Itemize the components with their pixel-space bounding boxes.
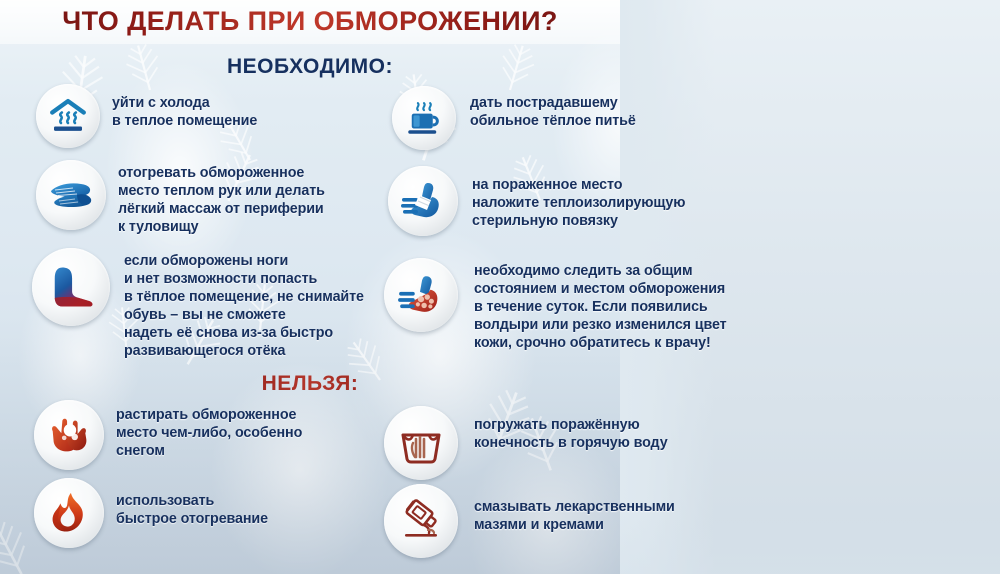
text-line: снегом [116,442,302,460]
list-item-required-6-text: необходимо следить за общим состоянием и… [474,258,727,352]
flame-icon [34,478,104,548]
list-item-forbidden-3-text: погружать поражённую конечность в горячу… [474,406,668,452]
text-line: уйти с холода [112,94,257,112]
list-item-required-1-text: уйти с холода в теплое помещение [112,84,257,130]
list-item-required-2: отогревать обмороженное место теплом рук… [36,160,325,236]
list-item-required-4: дать пострадавшему обильное тёплое питьё [392,86,636,150]
text-line: место чем-либо, особенно [116,424,302,442]
list-item-forbidden-1-text: растирать обмороженное место чем-либо, о… [116,400,302,460]
list-item-forbidden-2: использовать быстрое отогревание [34,478,268,548]
list-item-required-5: на пораженное место наложите теплоизолир… [388,166,685,236]
text-line: использовать [116,492,268,510]
list-item-forbidden-2-text: использовать быстрое отогревание [116,478,268,528]
text-line: развивающегося отёка [124,342,364,360]
list-item-required-4-text: дать пострадавшему обильное тёплое питьё [470,86,636,130]
frostbitten-foot-icon [32,248,110,326]
list-item-required-3: если обморожены ноги и нет возможности п… [32,248,364,360]
list-item-forbidden-1: растирать обмороженное место чем-либо, о… [34,400,302,470]
text-line: необходимо следить за общим [474,262,727,280]
infographic-poster: ЧТО ДЕЛАТЬ ПРИ ОБМОРОЖЕНИИ? НЕОБХОДИМО: … [0,0,1000,574]
text-line: дать пострадавшему [470,94,636,112]
page-title: ЧТО ДЕЛАТЬ ПРИ ОБМОРОЖЕНИИ? [0,6,620,37]
text-line: волдыри или резко изменился цвет [474,316,727,334]
text-line: к туловищу [118,218,325,236]
list-item-forbidden-3: погружать поражённую конечность в горячу… [384,406,668,480]
list-item-required-2-text: отогревать обмороженное место теплом рук… [118,160,325,236]
text-line: обувь – вы не сможете [124,306,364,324]
text-line: кожи, срочно обратитесь к врачу! [474,334,727,352]
list-item-forbidden-4: смазывать лекарственными мазями и кремам… [384,484,675,558]
text-line: погружать поражённую [474,416,668,434]
text-line: наложите теплоизолирующую [472,194,685,212]
text-line: растирать обмороженное [116,406,302,424]
text-line: лёгкий массаж от периферии [118,200,325,218]
list-item-forbidden-4-text: смазывать лекарственными мазями и кремам… [474,484,675,534]
text-line: и нет возможности попасть [124,270,364,288]
section-heading-required: НЕОБХОДИМО: [160,55,460,79]
text-line: если обморожены ноги [124,252,364,270]
text-line: конечность в горячую воду [474,434,668,452]
list-item-required-5-text: на пораженное место наложите теплоизолир… [472,166,685,230]
text-line: стерильную повязку [472,212,685,230]
text-line: в течение суток. Если появились [474,298,727,316]
list-item-required-6: необходимо следить за общим состоянием и… [384,258,727,352]
list-item-required-3-text: если обморожены ноги и нет возможности п… [124,248,364,360]
warm-house-icon [36,84,100,148]
text-line: обильное тёплое питьё [470,112,636,130]
hot-drink-mug-icon [392,86,456,150]
rub-with-snow-icon [34,400,104,470]
text-line: отогревать обмороженное [118,164,325,182]
text-line: в теплое помещение [112,112,257,130]
text-line: место теплом рук или делать [118,182,325,200]
list-item-required-1: уйти с холода в теплое помещение [36,84,257,148]
section-heading-forbidden: НЕЛЬЗЯ: [160,372,460,396]
bandaged-hand-icon [388,166,458,236]
ointment-tube-icon [384,484,458,558]
text-line: смазывать лекарственными [474,498,675,516]
text-line: надеть её снова из-за быстро [124,324,364,342]
text-line: состоянием и местом обморожения [474,280,727,298]
text-line: мазями и кремами [474,516,675,534]
blistered-hand-icon [384,258,458,332]
text-line: в тёплое помещение, не снимайте [124,288,364,306]
rubbing-hands-icon [36,160,106,230]
hot-water-basin-icon [384,406,458,480]
photo-bottom-fade [620,514,1000,574]
text-line: быстрое отогревание [116,510,268,528]
text-line: на пораженное место [472,176,685,194]
